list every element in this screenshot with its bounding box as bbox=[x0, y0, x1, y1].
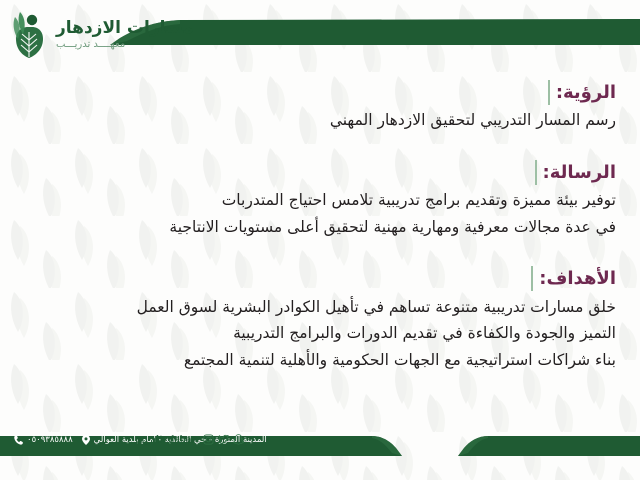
section-goals-heading: الأهداف: bbox=[531, 266, 616, 291]
footer-phone-text: ٠٥٠٩٣٨٥٨٨٨ bbox=[27, 435, 73, 445]
section-vision-heading: الرؤية: bbox=[548, 80, 616, 105]
social-handle[interactable]: m_alizdehar bbox=[135, 432, 195, 447]
slide-content: الرؤية: رسم المسار التدريبي لتحقيق الازد… bbox=[0, 78, 640, 418]
phone-icon bbox=[14, 435, 23, 445]
section-goals-body: خلق مسارات تدريبية متنوعة تساهم في تأهيل… bbox=[24, 294, 616, 374]
twitter-icon[interactable] bbox=[218, 434, 229, 445]
location-pin-icon bbox=[82, 435, 90, 445]
heading-accent-rule bbox=[531, 266, 533, 291]
section-mission-title: الرسالة: bbox=[543, 160, 616, 185]
footer-bar: المدينة المنورة - حي الخالدية - أمام بلد… bbox=[0, 418, 640, 480]
section-vision: الرؤية: رسم المسار التدريبي لتحقيق الازد… bbox=[24, 80, 616, 134]
body-line: التميز والجودة والكفاءة في تقديم الدورات… bbox=[24, 320, 616, 347]
snapchat-icon[interactable] bbox=[233, 434, 244, 445]
section-mission-heading: الرسالة: bbox=[535, 160, 616, 185]
body-line: في عدة مجالات معرفية ومهارية مهنية لتحقي… bbox=[24, 214, 616, 241]
logo-subtitle: معهــــد تدريـــب bbox=[56, 40, 125, 50]
section-vision-body: رسم المسار التدريبي لتحقيق الازدهار المه… bbox=[24, 107, 616, 134]
heading-accent-rule bbox=[535, 160, 537, 185]
slide-canvas: مسارات الازدهار معهــــد تدريـــب الرؤية… bbox=[0, 0, 640, 480]
footer-phone: ٠٥٠٩٣٨٥٨٨٨ bbox=[14, 435, 73, 445]
section-goals: الأهداف: خلق مسارات تدريبية متنوعة تساهم… bbox=[24, 266, 616, 373]
wheat-sheaf-person-icon bbox=[6, 10, 52, 60]
body-line: رسم المسار التدريبي لتحقيق الازدهار المه… bbox=[24, 107, 616, 134]
body-line: بناء شراكات استراتيجية مع الجهات الحكومي… bbox=[24, 347, 616, 374]
body-line: توفير بيئة مميزة وتقديم برامج تدريبية تل… bbox=[24, 187, 616, 214]
heading-accent-rule bbox=[548, 80, 550, 105]
section-goals-title: الأهداف: bbox=[539, 266, 616, 291]
section-vision-title: الرؤية: bbox=[556, 80, 616, 105]
brand-logo: مسارات الازدهار معهــــد تدريـــب bbox=[6, 8, 136, 62]
instagram-icon[interactable] bbox=[203, 434, 214, 445]
logo-name: مسارات الازدهار bbox=[56, 20, 194, 37]
section-mission-body: توفير بيئة مميزة وتقديم برامج تدريبية تل… bbox=[24, 187, 616, 240]
section-mission: الرسالة: توفير بيئة مميزة وتقديم برامج ت… bbox=[24, 160, 616, 241]
body-line: خلق مسارات تدريبية متنوعة تساهم في تأهيل… bbox=[24, 294, 616, 321]
footer-social: m_alizdehar bbox=[135, 428, 265, 450]
